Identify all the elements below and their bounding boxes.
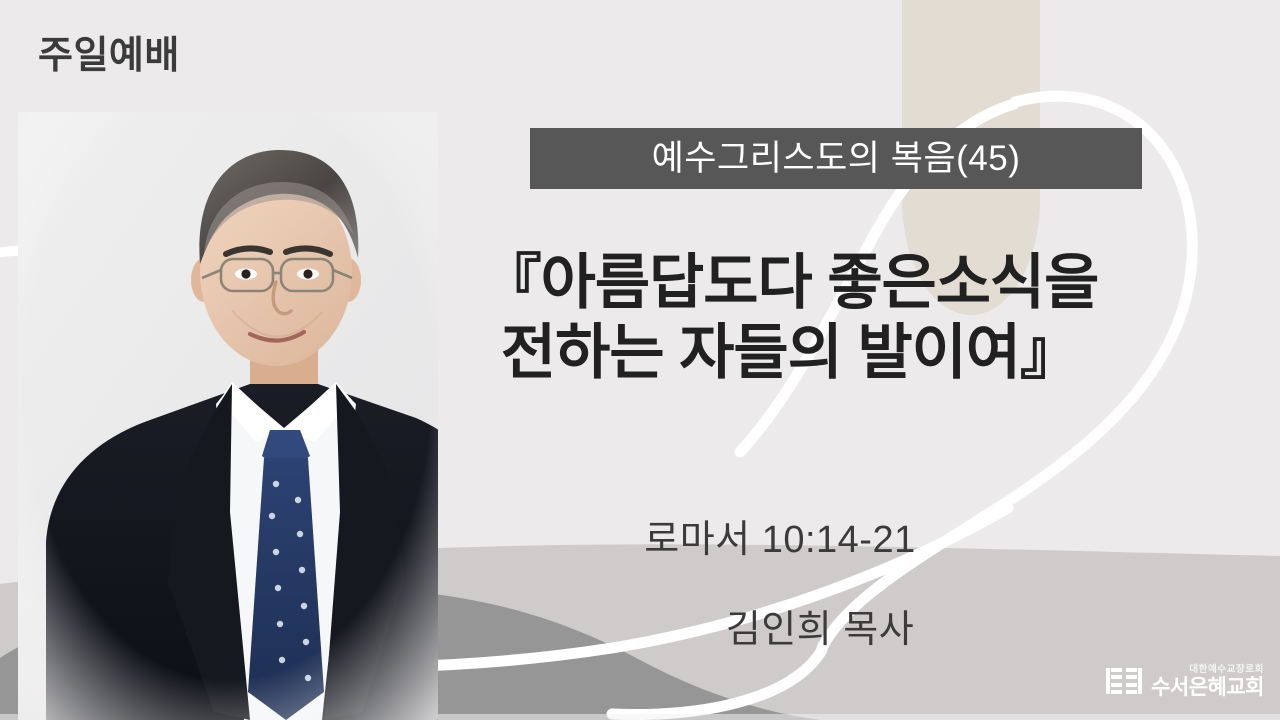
series-banner: 예수그리스도의 복음(45) xyxy=(530,128,1142,189)
sermon-slide: 주일예배 예수그리스도의 복음(45) 『아름답도다 좋은소식을 전하는 자들의… xyxy=(0,0,1280,720)
speaker-name: 김인희 목사 xyxy=(520,598,1120,653)
sg-monogram-icon xyxy=(1105,666,1143,696)
logo-wordmark: 대한예수교장로회 수서은혜교회 xyxy=(1151,665,1264,698)
logo-denomination: 대한예수교장로회 xyxy=(1151,665,1264,675)
preacher-portrait xyxy=(18,112,438,720)
church-logo: 대한예수교장로회 수서은혜교회 xyxy=(1105,665,1264,698)
logo-church-name: 수서은혜교회 xyxy=(1151,677,1264,698)
service-type-label: 주일예배 xyxy=(38,36,180,78)
scripture-reference: 로마서 10:14-21 xyxy=(480,508,1080,563)
sermon-title: 『아름답도다 좋은소식을 전하는 자들의 발이여』 xyxy=(420,248,1160,387)
series-banner-text: 예수그리스도의 복음(45) xyxy=(652,141,1021,176)
portrait-edge-fade xyxy=(18,112,438,720)
